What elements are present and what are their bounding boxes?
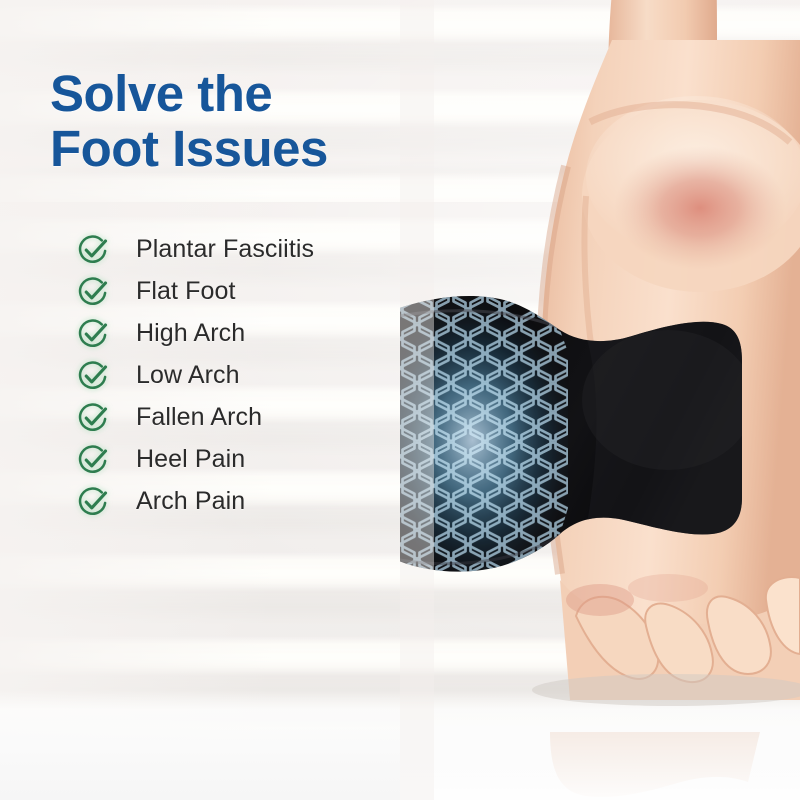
page-title-line-2: Foot Issues [50, 121, 470, 176]
list-item: Flat Foot [78, 270, 408, 312]
green-check-circle-icon [78, 444, 109, 475]
list-item-label: Fallen Arch [136, 403, 262, 432]
green-check-circle-icon [78, 402, 109, 433]
green-check-circle-icon [78, 486, 109, 517]
page-title: Solve the Foot Issues [50, 66, 470, 176]
list-item: Low Arch [78, 354, 408, 396]
list-item: Heel Pain [78, 438, 408, 480]
list-item: Arch Pain [78, 480, 408, 522]
benefits-checklist: Plantar Fasciitis Flat Foot High Arch Lo… [78, 228, 408, 522]
list-item-label: Heel Pain [136, 445, 245, 474]
list-item-label: Arch Pain [136, 487, 245, 516]
list-item: High Arch [78, 312, 408, 354]
page-title-line-1: Solve the [50, 65, 272, 122]
list-item-label: Plantar Fasciitis [136, 235, 314, 264]
green-check-circle-icon [78, 276, 109, 307]
list-item: Plantar Fasciitis [78, 228, 408, 270]
list-item-label: High Arch [136, 319, 245, 348]
green-check-circle-icon [78, 318, 109, 349]
green-check-circle-icon [78, 234, 109, 265]
promo-image: Solve the Foot Issues Plantar Fasciitis … [0, 0, 800, 800]
list-item-label: Flat Foot [136, 277, 236, 306]
list-item: Fallen Arch [78, 396, 408, 438]
green-check-circle-icon [78, 360, 109, 391]
list-item-label: Low Arch [136, 361, 240, 390]
